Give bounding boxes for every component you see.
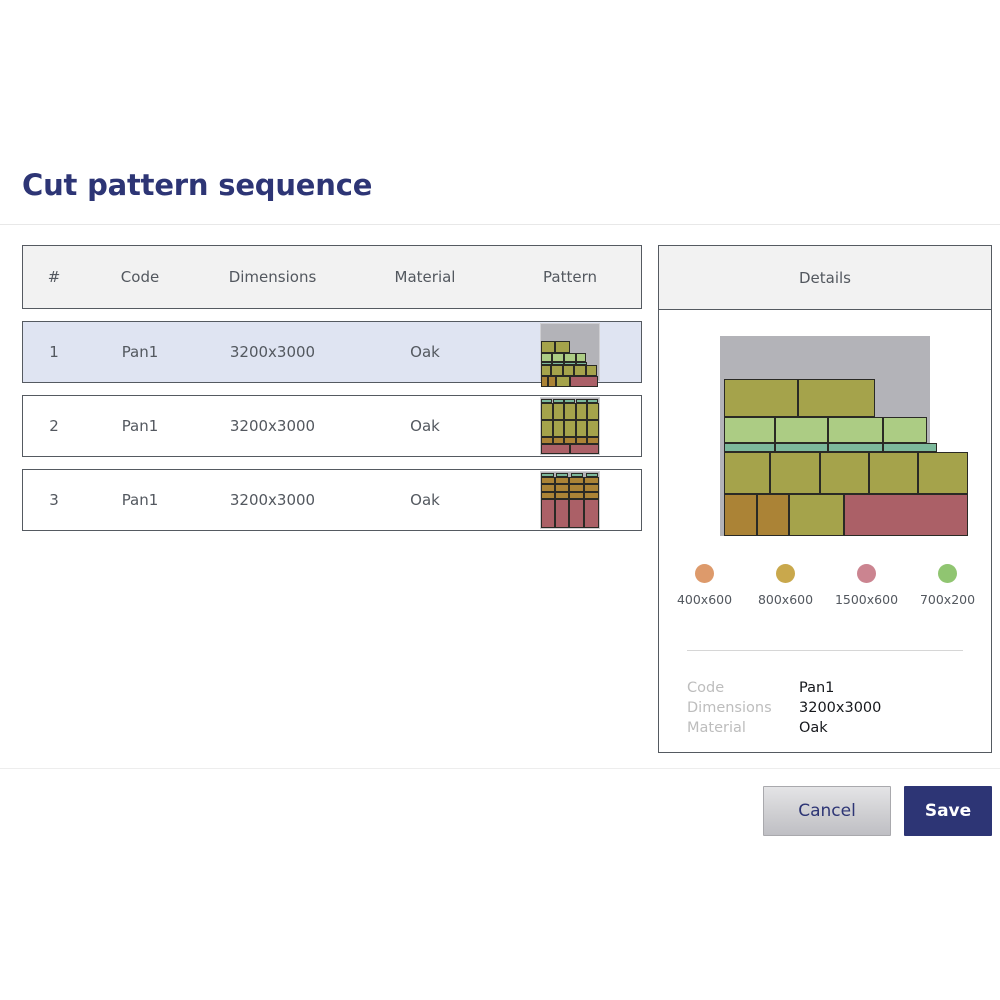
pattern-block bbox=[576, 437, 588, 444]
legend-item: 800x600 bbox=[752, 564, 819, 607]
detail-field-row: CodePan1 bbox=[687, 678, 967, 698]
column-header-number: # bbox=[23, 268, 85, 286]
pattern-block bbox=[556, 376, 571, 387]
pattern-block bbox=[584, 484, 599, 491]
legend-item: 1500x600 bbox=[833, 564, 900, 607]
row-number: 2 bbox=[23, 417, 85, 435]
pattern-block bbox=[541, 484, 555, 491]
pattern-block bbox=[724, 452, 770, 494]
table-row[interactable]: 2Pan13200x3000Oak bbox=[22, 395, 642, 457]
pattern-block bbox=[587, 437, 599, 444]
pattern-block bbox=[541, 492, 555, 499]
pattern-block bbox=[883, 443, 938, 452]
pattern-block bbox=[563, 365, 574, 376]
pattern-block bbox=[587, 420, 599, 436]
detail-fields: CodePan1Dimensions3200x3000MaterialOak bbox=[687, 678, 967, 738]
pattern-block bbox=[584, 477, 599, 484]
legend-item: 400x600 bbox=[671, 564, 738, 607]
row-number: 1 bbox=[23, 343, 85, 361]
legend-label: 800x600 bbox=[758, 592, 813, 607]
column-header-code: Code bbox=[85, 268, 195, 286]
pattern-block bbox=[541, 376, 548, 387]
pattern-thumbnail[interactable] bbox=[541, 324, 599, 380]
pattern-block bbox=[828, 443, 883, 452]
row-dimensions: 3200x3000 bbox=[195, 417, 350, 435]
pattern-block bbox=[541, 444, 570, 454]
pattern-block bbox=[569, 492, 583, 499]
row-number: 3 bbox=[23, 491, 85, 509]
pattern-block bbox=[555, 341, 570, 353]
legend-label: 700x200 bbox=[920, 592, 975, 607]
pattern-diagram bbox=[720, 336, 930, 536]
legend-label: 1500x600 bbox=[835, 592, 898, 607]
row-dimensions: 3200x3000 bbox=[195, 343, 350, 361]
pattern-block bbox=[820, 452, 869, 494]
pattern-block bbox=[775, 417, 829, 443]
legend-divider bbox=[687, 650, 963, 651]
legend-color-dot bbox=[776, 564, 795, 583]
row-code: Pan1 bbox=[85, 417, 195, 435]
detail-field-row: Dimensions3200x3000 bbox=[687, 698, 967, 718]
pattern-block bbox=[541, 477, 555, 484]
pattern-block bbox=[576, 420, 588, 436]
row-material: Oak bbox=[350, 343, 500, 361]
pattern-block bbox=[869, 452, 918, 494]
pattern-thumbnail[interactable] bbox=[541, 472, 599, 528]
pattern-block bbox=[570, 376, 598, 387]
detail-field-label: Material bbox=[687, 720, 799, 736]
pattern-block bbox=[541, 403, 553, 420]
pattern-block bbox=[564, 420, 576, 436]
pattern-block bbox=[724, 379, 798, 417]
row-material: Oak bbox=[350, 417, 500, 435]
table-header-row: # Code Dimensions Material Pattern bbox=[22, 245, 642, 309]
pattern-block bbox=[586, 365, 597, 376]
pattern-block bbox=[569, 477, 583, 484]
page-title: Cut pattern sequence bbox=[22, 168, 372, 202]
row-dimensions: 3200x3000 bbox=[195, 491, 350, 509]
parts-legend: 400x600800x6001500x600700x200 bbox=[659, 564, 993, 607]
pattern-block bbox=[569, 499, 583, 528]
pattern-block bbox=[541, 437, 553, 444]
column-header-pattern: Pattern bbox=[500, 268, 640, 286]
legend-item: 700x200 bbox=[914, 564, 981, 607]
details-header: Details bbox=[659, 246, 991, 310]
pattern-block bbox=[584, 492, 599, 499]
pattern-block bbox=[541, 353, 552, 362]
pattern-block bbox=[541, 365, 551, 376]
pattern-block bbox=[541, 420, 553, 436]
pattern-block bbox=[574, 365, 585, 376]
detail-field-value: Pan1 bbox=[799, 680, 834, 696]
cancel-button[interactable]: Cancel bbox=[763, 786, 891, 836]
pattern-block bbox=[587, 403, 599, 420]
pattern-block bbox=[570, 444, 599, 454]
cut-pattern-table: # Code Dimensions Material Pattern 1Pan1… bbox=[22, 245, 642, 531]
pattern-block bbox=[569, 484, 583, 491]
pattern-block bbox=[541, 341, 555, 353]
pattern-block bbox=[789, 494, 844, 536]
pattern-block bbox=[548, 376, 555, 387]
pattern-block bbox=[551, 365, 563, 376]
pattern-block bbox=[724, 417, 774, 443]
pattern-block bbox=[757, 494, 790, 536]
footer-actions: Cancel Save bbox=[763, 786, 992, 836]
detail-field-value: 3200x3000 bbox=[799, 700, 881, 716]
pattern-block bbox=[918, 452, 967, 494]
pattern-block bbox=[553, 420, 565, 436]
table-body: 1Pan13200x3000Oak2Pan13200x3000Oak3Pan13… bbox=[22, 321, 642, 531]
row-pattern-cell[interactable] bbox=[500, 398, 640, 454]
row-code: Pan1 bbox=[85, 491, 195, 509]
row-pattern-cell[interactable] bbox=[500, 472, 640, 528]
details-panel: Details 400x600800x6001500x600700x200 Co… bbox=[658, 245, 992, 753]
pattern-block bbox=[552, 353, 564, 362]
column-header-dimensions: Dimensions bbox=[195, 268, 350, 286]
legend-color-dot bbox=[857, 564, 876, 583]
pattern-block bbox=[564, 353, 576, 362]
pattern-block bbox=[564, 437, 576, 444]
detail-field-label: Code bbox=[687, 680, 799, 696]
row-material: Oak bbox=[350, 491, 500, 509]
save-button[interactable]: Save bbox=[904, 786, 992, 836]
pattern-block bbox=[576, 353, 586, 362]
detail-field-row: MaterialOak bbox=[687, 718, 967, 738]
pattern-block bbox=[553, 403, 565, 420]
footer-divider bbox=[0, 768, 1000, 769]
pattern-block bbox=[584, 499, 599, 528]
pattern-block bbox=[553, 437, 565, 444]
pattern-block bbox=[798, 379, 876, 417]
title-divider bbox=[0, 224, 1000, 225]
table-row[interactable]: 1Pan13200x3000Oak bbox=[22, 321, 642, 383]
row-code: Pan1 bbox=[85, 343, 195, 361]
detail-field-value: Oak bbox=[799, 720, 828, 736]
legend-color-dot bbox=[695, 564, 714, 583]
legend-color-dot bbox=[938, 564, 957, 583]
legend-label: 400x600 bbox=[677, 592, 732, 607]
pattern-block bbox=[844, 494, 968, 536]
row-pattern-cell[interactable] bbox=[500, 324, 640, 380]
detail-field-label: Dimensions bbox=[687, 700, 799, 716]
pattern-block bbox=[555, 484, 569, 491]
pattern-block bbox=[883, 417, 927, 443]
pattern-block bbox=[555, 499, 569, 528]
pattern-block bbox=[555, 492, 569, 499]
column-header-material: Material bbox=[350, 268, 500, 286]
pattern-block bbox=[724, 443, 774, 452]
pattern-block bbox=[775, 443, 829, 452]
table-row[interactable]: 3Pan13200x3000Oak bbox=[22, 469, 642, 531]
pattern-block bbox=[828, 417, 883, 443]
pattern-block bbox=[724, 494, 757, 536]
pattern-block bbox=[541, 499, 555, 528]
pattern-block bbox=[770, 452, 819, 494]
pattern-block bbox=[564, 403, 576, 420]
pattern-block bbox=[576, 403, 588, 420]
pattern-block bbox=[555, 477, 569, 484]
pattern-thumbnail[interactable] bbox=[541, 398, 599, 454]
